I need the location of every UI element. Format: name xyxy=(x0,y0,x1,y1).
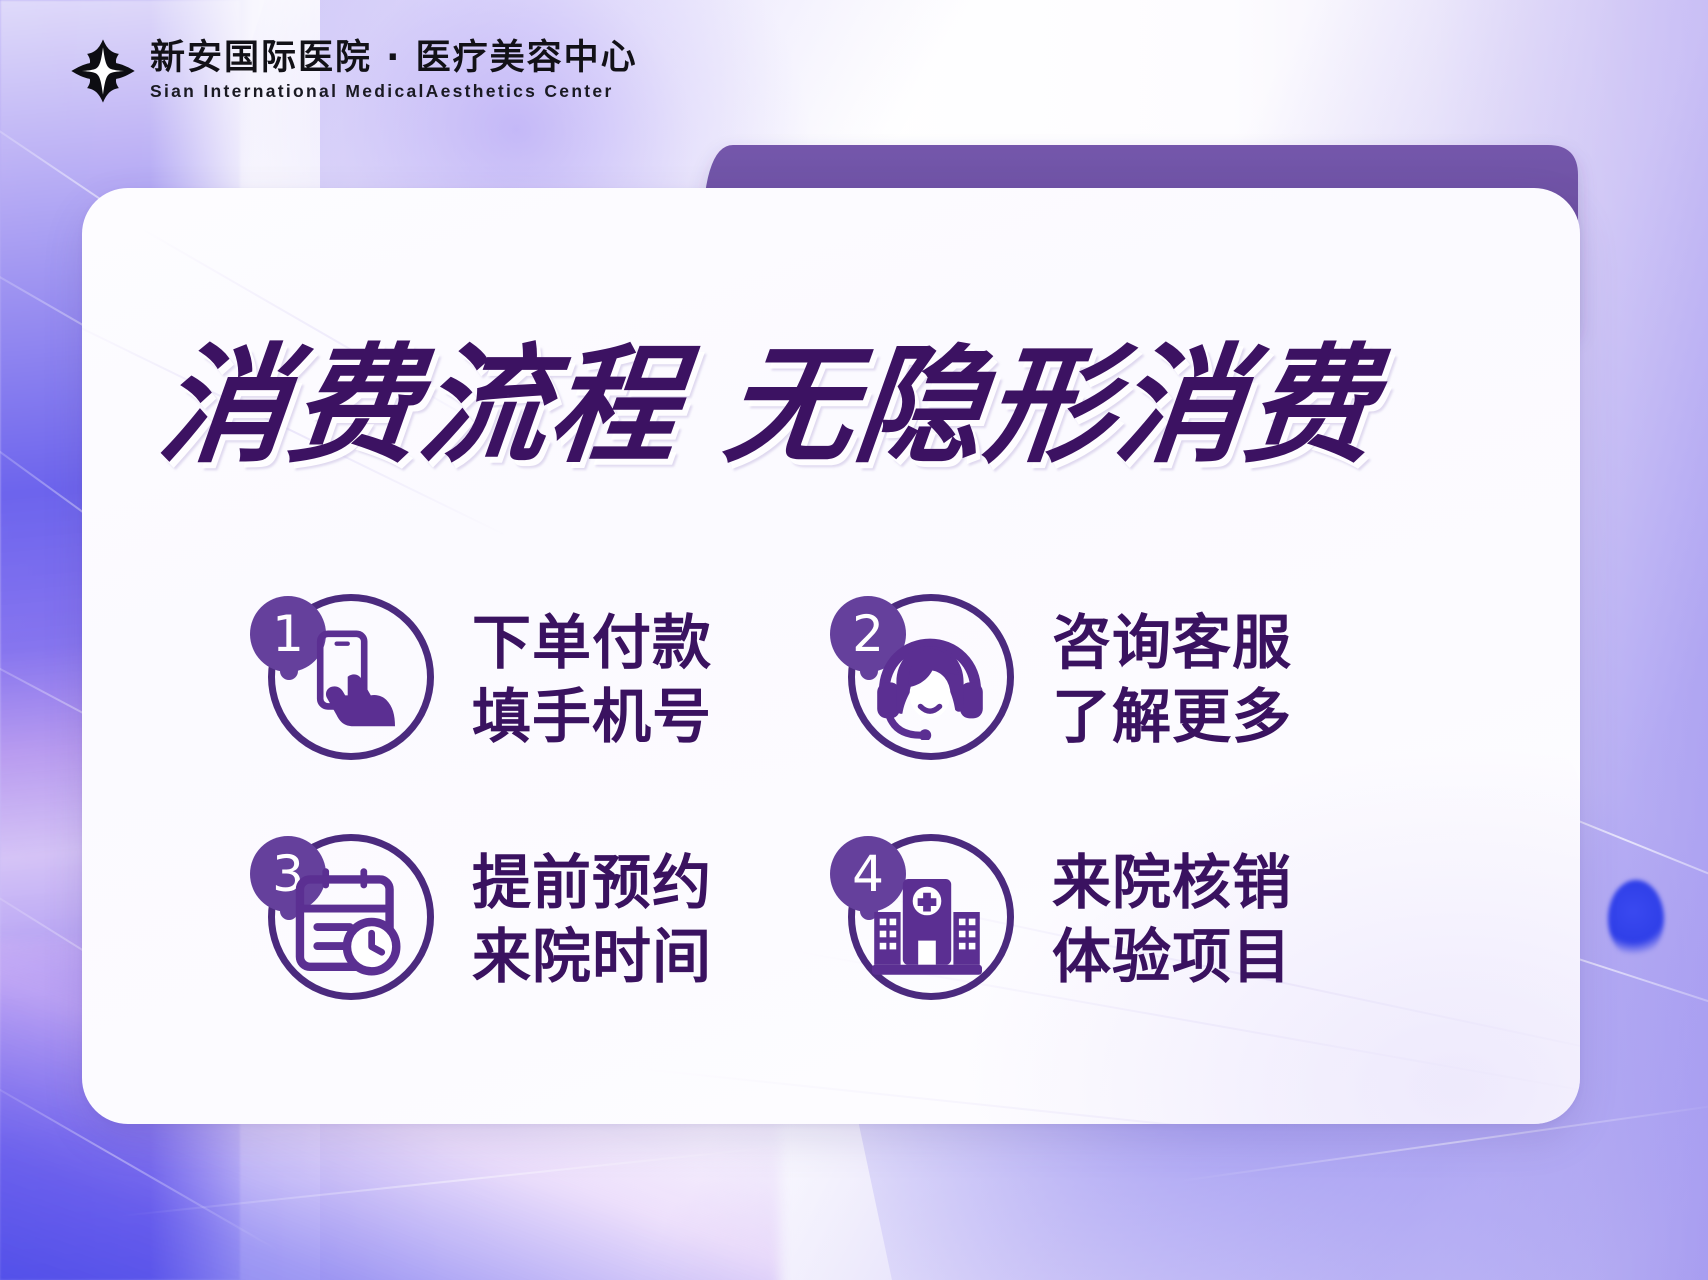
poster-title: 消费流程无隐形消费 xyxy=(153,338,1488,476)
step-2-label: 咨询客服 了解更多 xyxy=(1052,606,1292,755)
step-2-line-2: 了解更多 xyxy=(1052,680,1292,754)
step-1-label: 下单付款 填手机号 xyxy=(472,606,712,755)
step-item-4: 4 xyxy=(830,800,1410,1040)
title-part-1: 消费流程 xyxy=(152,332,688,481)
headset-agent-icon xyxy=(870,620,990,740)
hospital-building-icon xyxy=(866,868,988,978)
step-2-line-1: 咨询客服 xyxy=(1052,606,1292,680)
step-3-icon-group: 3 xyxy=(250,822,446,1018)
step-4-label: 来院核销 体验项目 xyxy=(1052,846,1292,995)
title-part-2: 无隐形消费 xyxy=(718,332,1384,481)
step-4-icon-group: 4 xyxy=(830,822,1026,1018)
step-3-label: 提前预约 来院时间 xyxy=(472,846,712,995)
step-item-1: 1 下单付款 填手机号 xyxy=(250,560,830,800)
brand-name-en: Sian International MedicalAesthetics Cen… xyxy=(150,83,638,101)
calendar-clock-icon xyxy=(288,866,406,978)
phone-in-hand-icon xyxy=(296,624,406,736)
step-4-line-2: 体验项目 xyxy=(1052,920,1292,994)
step-3-line-1: 提前预约 xyxy=(472,846,712,920)
diamond-sparkle-logo-icon xyxy=(70,38,136,104)
brand-name-cn: 新安国际医院 · 医疗美容中心 xyxy=(150,41,638,76)
step-3-line-2: 来院时间 xyxy=(472,920,712,994)
poster-canvas: 新安国际医院 · 医疗美容中心 Sian International Medic… xyxy=(0,0,1708,1280)
step-2-icon-group: 2 xyxy=(830,582,1026,778)
brand-logo: 新安国际医院 · 医疗美容中心 Sian International Medic… xyxy=(70,38,638,104)
step-item-3: 3 提前预约 来院 xyxy=(250,800,830,1040)
step-1-line-1: 下单付款 xyxy=(472,606,712,680)
steps-grid: 1 下单付款 填手机号 2 xyxy=(250,560,1410,1040)
step-1-icon-group: 1 xyxy=(250,582,446,778)
step-1-line-2: 填手机号 xyxy=(472,680,712,754)
step-item-2: 2 xyxy=(830,560,1410,800)
step-4-line-1: 来院核销 xyxy=(1052,846,1292,920)
